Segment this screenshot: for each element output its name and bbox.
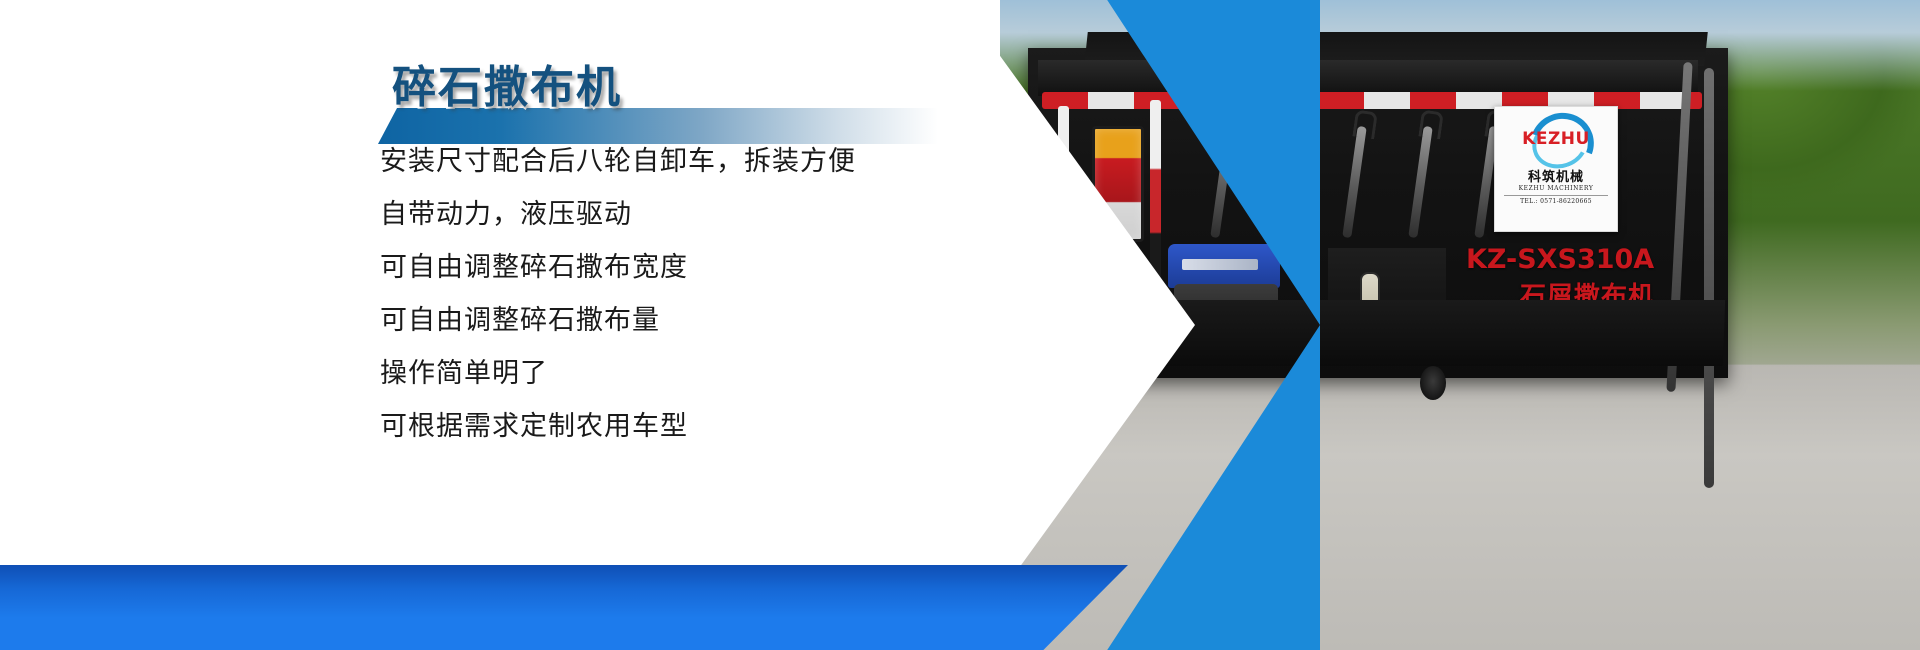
side-rail bbox=[1704, 68, 1714, 488]
list-item: 可自由调整碎石撒布量 bbox=[380, 307, 980, 334]
brand-name-en: KEZHU MACHINERY bbox=[1519, 185, 1594, 192]
list-item: 安装尺寸配合后八轮自卸车，拆装方便 bbox=[380, 148, 980, 175]
machine-lip bbox=[1038, 60, 1698, 96]
brand-tel: TEL.: 0571-86220665 bbox=[1520, 198, 1592, 205]
bottom-blue-bar bbox=[0, 565, 1128, 650]
engine-cover bbox=[1168, 244, 1280, 288]
title-block: 碎石撒布机 bbox=[378, 66, 938, 146]
sign-divider bbox=[1504, 195, 1608, 196]
product-banner: KEZHU 科筑机械 KEZHU MACHINERY TEL.: 0571-86… bbox=[0, 0, 1920, 650]
feature-list: 安装尺寸配合后八轮自卸车，拆装方便 自带动力，液压驱动 可自由调整碎石撒布宽度 … bbox=[380, 148, 980, 466]
caster-wheel bbox=[1420, 366, 1446, 400]
list-item: 可根据需求定制农用车型 bbox=[380, 413, 980, 440]
page-title: 碎石撒布机 bbox=[392, 66, 622, 110]
kezhu-wordmark: KEZHU bbox=[1514, 129, 1598, 149]
text-column: 碎石撒布机 安装尺寸配合后八轮自卸车，拆装方便 自带动力，液压驱动 可自由调整碎… bbox=[0, 0, 960, 650]
model-code-text: KZ-SXS310A bbox=[1466, 244, 1654, 275]
list-item: 操作简单明了 bbox=[380, 360, 980, 387]
kezhu-logo-icon: KEZHU bbox=[1514, 112, 1598, 164]
title-band bbox=[378, 108, 938, 144]
list-item: 可自由调整碎石撒布宽度 bbox=[380, 254, 980, 281]
brand-sign-plate: KEZHU 科筑机械 KEZHU MACHINERY TEL.: 0571-86… bbox=[1494, 106, 1618, 232]
valve-lever bbox=[1408, 126, 1432, 238]
list-item: 自带动力，液压驱动 bbox=[380, 201, 980, 228]
valve-lever bbox=[1342, 126, 1366, 238]
